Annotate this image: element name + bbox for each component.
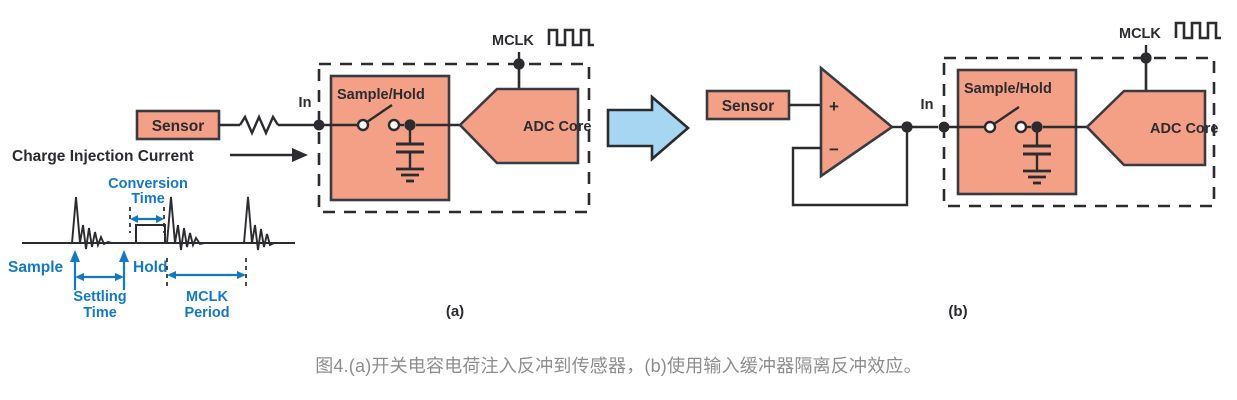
mclk-period-dimension-arrow [167, 271, 246, 279]
panel-b-label: (b) [948, 303, 967, 320]
conversion-time-label-line1: Conversion [108, 176, 188, 192]
sample-label: Sample [8, 259, 64, 276]
panel-a-clock-waveform-icon [549, 30, 594, 45]
mclk-period-label-line1: MCLK [186, 289, 228, 305]
panel-b-switch-terminal-left [985, 122, 995, 132]
resistor-icon [240, 117, 278, 133]
hold-label: Hold [133, 259, 167, 276]
panel-b-sample-hold-block: Sample/Hold [958, 70, 1076, 194]
panel-a-sample-hold-label: Sample/Hold [337, 87, 425, 103]
panel-a-adc-core-block: ADC Core [460, 89, 591, 163]
charge-injection-annotation: Charge Injection Current [12, 148, 308, 165]
panel-b-hold-node [1031, 121, 1042, 132]
panel-b-sensor-label: Sensor [722, 98, 775, 115]
settling-time-label-line1: Settling [73, 289, 126, 305]
charge-injection-label: Charge Injection Current [12, 148, 194, 165]
panel-b-input-label: In [921, 97, 934, 113]
transition-arrow-icon [608, 97, 688, 159]
panel-a-sensor-wire [219, 117, 318, 133]
panel-b-sample-hold-label: Sample/Hold [964, 81, 1052, 97]
sample-pointer-arrow [70, 250, 80, 290]
panel-b-opamp-output-node [901, 121, 912, 132]
mclk-period-label-line2: Period [184, 305, 229, 321]
panel-a-switch-terminal-right [389, 120, 399, 130]
panel-a-input-label: In [299, 95, 312, 111]
timing-diagram: Conversion Time Sample Hold Settling Tim… [8, 176, 295, 321]
panel-b-adc-core-label: ADC Core [1150, 121, 1218, 137]
timing-spike-1 [72, 197, 112, 249]
panel-b-opamp-plus-label: + [829, 97, 839, 116]
figure-canvas: Sensor In Charge Injection Current MCLK … [0, 0, 1237, 400]
charge-injection-arrow-icon [292, 148, 308, 162]
panel-a-adc-core-label: ADC Core [523, 119, 591, 135]
panel-b-clock-waveform-icon [1176, 23, 1221, 38]
panel-b-opamp-minus-label: − [829, 140, 839, 159]
panel-a-sensor-label: Sensor [152, 118, 205, 135]
figure-caption: 图4.(a)开关电容电荷注入反冲到传感器，(b)使用输入缓冲器隔离反冲效应。 [0, 352, 1237, 378]
panel-a-label: (a) [446, 303, 464, 320]
panel-a-mclk-group: MCLK [492, 30, 594, 95]
panel-a-sensor-block: Sensor [137, 111, 219, 139]
timing-hold-step [136, 225, 165, 243]
panel-a-hold-node [404, 119, 415, 130]
panel-b-switch-terminal-right [1016, 122, 1026, 132]
conversion-time-label-line2: Time [131, 191, 165, 207]
panel-b-mclk-label: MCLK [1119, 26, 1161, 42]
settling-time-dimension-arrow [75, 273, 124, 281]
panel-b-adc-core-block: ADC Core [1087, 91, 1218, 165]
panel-a-mclk-label: MCLK [492, 33, 534, 49]
panel-b-sensor-block: Sensor [707, 91, 789, 119]
conversion-time-dimension-arrow [130, 215, 164, 223]
panel-a-switch-terminal-left [358, 120, 368, 130]
panel-a-sample-hold-block: Sample/Hold [331, 76, 449, 200]
panel-b-opamp-block: + − [821, 68, 892, 176]
settling-time-label-line2: Time [83, 305, 117, 321]
hold-pointer-arrow [119, 250, 129, 290]
